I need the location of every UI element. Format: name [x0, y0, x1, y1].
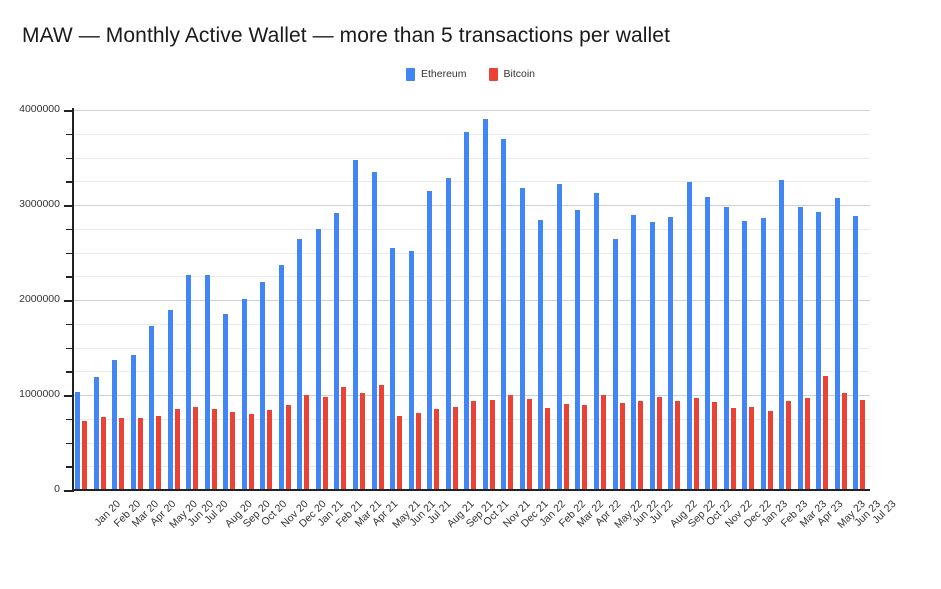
- bar-bitcoin[interactable]: [694, 398, 699, 490]
- bar-group: [814, 110, 833, 490]
- bar-bitcoin[interactable]: [786, 401, 791, 490]
- bar-ethereum[interactable]: [631, 215, 636, 490]
- bar-bitcoin[interactable]: [620, 403, 625, 490]
- bar-group: [370, 110, 389, 490]
- bar-bitcoin[interactable]: [805, 398, 810, 490]
- bar-group: [629, 110, 648, 490]
- y-tick-minor: [66, 443, 73, 445]
- bar-ethereum[interactable]: [149, 326, 154, 490]
- bar-group: [388, 110, 407, 490]
- bar-ethereum[interactable]: [538, 220, 543, 490]
- y-axis-tick-label: 3000000: [0, 198, 60, 210]
- bar-bitcoin[interactable]: [212, 409, 217, 490]
- bar-ethereum[interactable]: [390, 248, 395, 490]
- bar-bitcoin[interactable]: [156, 416, 161, 490]
- bar-ethereum[interactable]: [853, 216, 858, 490]
- bar-bitcoin[interactable]: [657, 397, 662, 490]
- bar-group: [536, 110, 555, 490]
- bar-bitcoin[interactable]: [601, 395, 606, 490]
- bar-group: [740, 110, 759, 490]
- bar-ethereum[interactable]: [353, 160, 358, 490]
- bar-bitcoin[interactable]: [379, 385, 384, 490]
- bar-bitcoin[interactable]: [823, 376, 828, 490]
- bar-ethereum[interactable]: [372, 172, 377, 490]
- bar-ethereum[interactable]: [835, 198, 840, 490]
- y-axis-labels: 01000000200000030000004000000: [0, 0, 60, 589]
- y-tick-minor: [66, 229, 73, 231]
- bar-ethereum[interactable]: [297, 239, 302, 490]
- legend-swatch-icon: [406, 68, 415, 81]
- bar-ethereum[interactable]: [446, 178, 451, 490]
- bar-group: [611, 110, 630, 490]
- y-axis-tick-label: 0: [0, 483, 60, 495]
- bar-ethereum[interactable]: [260, 282, 265, 490]
- bar-ethereum[interactable]: [724, 207, 729, 490]
- bar-group: [351, 110, 370, 490]
- bar-group: [314, 110, 333, 490]
- bar-group: [499, 110, 518, 490]
- x-axis-line: [72, 489, 870, 491]
- bar-ethereum[interactable]: [687, 182, 692, 490]
- bar-ethereum[interactable]: [223, 314, 228, 490]
- bar-bitcoin[interactable]: [545, 408, 550, 490]
- bar-bitcoin[interactable]: [416, 413, 421, 490]
- y-axis-tick-label: 4000000: [0, 103, 60, 115]
- bar-ethereum[interactable]: [131, 355, 136, 490]
- bar-group: [295, 110, 314, 490]
- bar-ethereum[interactable]: [668, 217, 673, 490]
- x-axis-labels: Jan 20Feb 20Mar 20Apr 20May 20Jun 20Jul …: [73, 492, 870, 587]
- y-axis-tick-label: 2000000: [0, 293, 60, 305]
- bar-ethereum[interactable]: [279, 265, 284, 490]
- bar-bitcoin[interactable]: [193, 407, 198, 490]
- bar-bitcoin[interactable]: [119, 418, 124, 490]
- bar-ethereum[interactable]: [483, 119, 488, 490]
- bar-bitcoin[interactable]: [267, 410, 272, 490]
- bar-ethereum[interactable]: [427, 191, 432, 490]
- bar-group: [407, 110, 426, 490]
- bar-group: [703, 110, 722, 490]
- bar-group: [555, 110, 574, 490]
- y-tick-minor: [66, 466, 73, 468]
- bar-group: [203, 110, 222, 490]
- bar-bitcoin[interactable]: [249, 414, 254, 490]
- bar-ethereum[interactable]: [186, 275, 191, 490]
- bar-ethereum[interactable]: [520, 188, 525, 490]
- bar-bitcoin[interactable]: [564, 404, 569, 490]
- bar-ethereum[interactable]: [761, 218, 766, 490]
- bar-bitcoin[interactable]: [230, 412, 235, 490]
- y-axis-tick-label: 1000000: [0, 388, 60, 400]
- bar-bitcoin[interactable]: [471, 401, 476, 490]
- bar-bitcoin[interactable]: [101, 417, 106, 490]
- bar-group: [73, 110, 92, 490]
- y-tick-minor: [66, 371, 73, 373]
- bar-ethereum[interactable]: [501, 139, 506, 490]
- bar-ethereum[interactable]: [334, 213, 339, 490]
- bar-bitcoin[interactable]: [749, 407, 754, 490]
- bar-ethereum[interactable]: [242, 299, 247, 490]
- bar-bitcoin[interactable]: [842, 393, 847, 490]
- bar-group: [722, 110, 741, 490]
- y-tick-minor: [66, 181, 73, 183]
- bar-bitcoin[interactable]: [453, 407, 458, 490]
- bar-group: [851, 110, 870, 490]
- bar-ethereum[interactable]: [557, 184, 562, 490]
- legend-item-label: Bitcoin: [504, 69, 536, 80]
- bar-group: [685, 110, 704, 490]
- bar-bitcoin[interactable]: [712, 402, 717, 490]
- bar-group: [648, 110, 667, 490]
- legend-swatch-icon: [489, 68, 498, 81]
- bar-group: [462, 110, 481, 490]
- bar-bitcoin[interactable]: [286, 405, 291, 490]
- bar-bitcoin[interactable]: [360, 393, 365, 490]
- y-tick-minor: [66, 134, 73, 136]
- bar-bitcoin[interactable]: [768, 411, 773, 490]
- bar-group: [777, 110, 796, 490]
- bar-group: [258, 110, 277, 490]
- bar-group: [481, 110, 500, 490]
- y-tick-major: [64, 110, 73, 112]
- bar-ethereum[interactable]: [650, 222, 655, 490]
- chart-legend: EthereumBitcoin: [0, 68, 941, 81]
- bar-group: [166, 110, 185, 490]
- bar-group: [759, 110, 778, 490]
- y-tick-minor: [66, 158, 73, 160]
- bar-ethereum[interactable]: [205, 275, 210, 490]
- bar-bitcoin[interactable]: [860, 400, 865, 490]
- bar-ethereum[interactable]: [705, 197, 710, 490]
- legend-item-bitcoin[interactable]: Bitcoin: [489, 68, 536, 81]
- bar-group: [518, 110, 537, 490]
- y-tick-major: [64, 395, 73, 397]
- bar-bitcoin[interactable]: [341, 387, 346, 490]
- bar-ethereum[interactable]: [575, 210, 580, 490]
- legend-item-ethereum[interactable]: Ethereum: [406, 68, 467, 81]
- bar-bitcoin[interactable]: [582, 405, 587, 491]
- bar-bitcoin[interactable]: [731, 408, 736, 490]
- bar-bitcoin[interactable]: [675, 401, 680, 490]
- y-tick-minor: [66, 419, 73, 421]
- bar-ethereum[interactable]: [112, 360, 117, 490]
- bar-group: [129, 110, 148, 490]
- bar-bitcoin[interactable]: [175, 409, 180, 490]
- bar-group: [110, 110, 129, 490]
- bar-ethereum[interactable]: [798, 207, 803, 490]
- bar-group: [425, 110, 444, 490]
- plot-area: [73, 110, 870, 490]
- bar-bitcoin[interactable]: [397, 416, 402, 490]
- bar-group: [796, 110, 815, 490]
- y-tick-minor: [66, 276, 73, 278]
- bar-ethereum[interactable]: [594, 193, 599, 490]
- bar-group: [92, 110, 111, 490]
- bar-ethereum[interactable]: [464, 132, 469, 490]
- legend-item-label: Ethereum: [421, 69, 467, 80]
- bar-bitcoin[interactable]: [82, 421, 87, 490]
- bar-ethereum[interactable]: [94, 377, 99, 490]
- y-tick-major: [64, 300, 73, 302]
- bar-group: [184, 110, 203, 490]
- bar-bitcoin[interactable]: [508, 395, 513, 490]
- bar-ethereum[interactable]: [816, 212, 821, 490]
- bar-group: [147, 110, 166, 490]
- bar-group: [221, 110, 240, 490]
- bar-bitcoin[interactable]: [304, 395, 309, 490]
- bar-ethereum[interactable]: [168, 310, 173, 491]
- bar-group: [277, 110, 296, 490]
- y-tick-minor: [66, 324, 73, 326]
- chart-container: MAW — Monthly Active Wallet — more than …: [0, 0, 941, 589]
- bar-bitcoin[interactable]: [527, 399, 532, 490]
- bar-group: [833, 110, 852, 490]
- bar-ethereum[interactable]: [779, 180, 784, 490]
- bar-ethereum[interactable]: [409, 251, 414, 490]
- bar-bitcoin[interactable]: [138, 418, 143, 490]
- bar-group: [444, 110, 463, 490]
- y-tick-major: [64, 205, 73, 207]
- bar-group: [592, 110, 611, 490]
- bar-group: [332, 110, 351, 490]
- bar-group: [666, 110, 685, 490]
- bar-ethereum[interactable]: [613, 239, 618, 490]
- y-tick-major: [64, 490, 73, 492]
- y-tick-minor: [66, 348, 73, 350]
- bar-bitcoin[interactable]: [638, 401, 643, 490]
- bar-group: [240, 110, 259, 490]
- bar-group: [573, 110, 592, 490]
- bar-bitcoin[interactable]: [490, 400, 495, 490]
- y-tick-minor: [66, 253, 73, 255]
- bar-ethereum[interactable]: [742, 221, 747, 490]
- bar-ethereum[interactable]: [75, 392, 80, 490]
- bar-bitcoin[interactable]: [434, 409, 439, 490]
- bar-ethereum[interactable]: [316, 229, 321, 490]
- bar-bitcoin[interactable]: [323, 397, 328, 490]
- chart-title: MAW — Monthly Active Wallet — more than …: [22, 24, 670, 48]
